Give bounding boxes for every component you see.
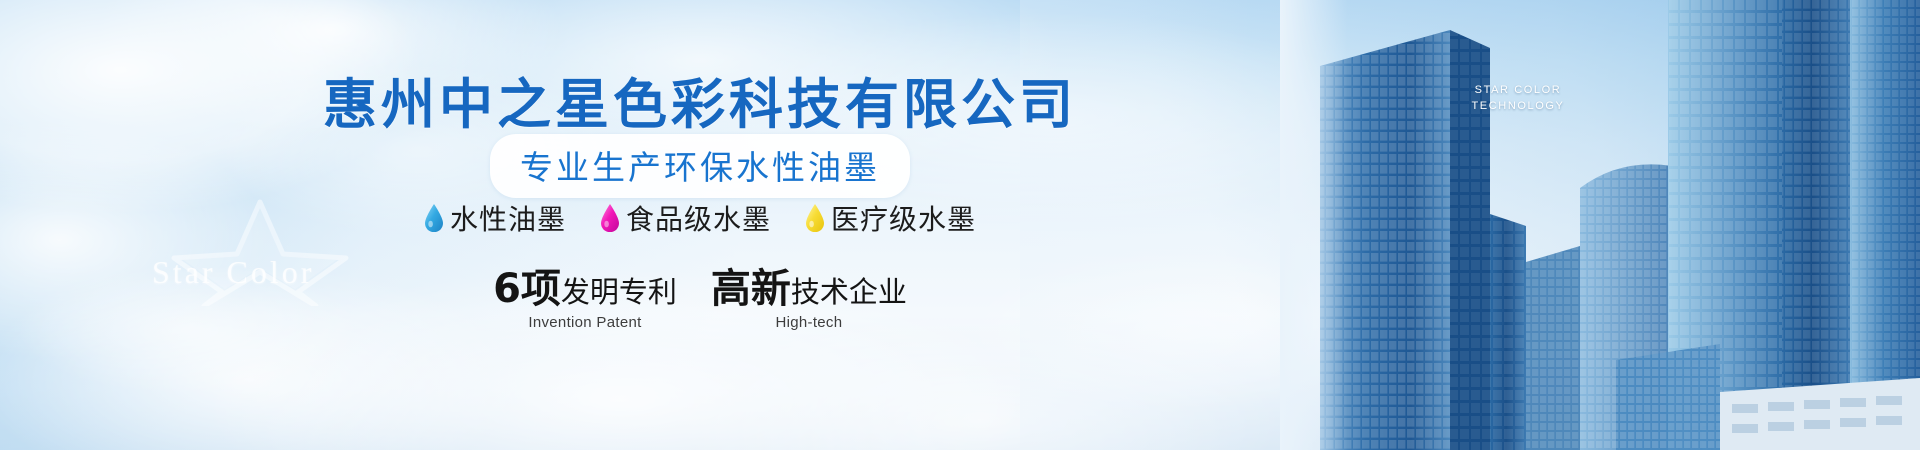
company-title: 惠州中之星色彩科技有限公司 <box>0 60 1400 139</box>
feature-list: 水性油墨 <box>0 198 1400 238</box>
water-drop-icon <box>805 204 825 232</box>
banner-content: 惠州中之星色彩科技有限公司 专业生产环保水性油墨 <box>0 0 1400 450</box>
credential-list: 6项发明专利 Invention Patent 高新技术企业 High-tech <box>0 268 1400 331</box>
feature-label: 医疗级水墨 <box>831 198 976 238</box>
feature-label: 食品级水墨 <box>626 198 771 238</box>
feature-label: 水性油墨 <box>450 198 566 238</box>
water-drop-icon <box>424 204 444 232</box>
credential-item: 高新技术企业 High-tech <box>711 268 907 331</box>
promotional-banner: Star Color <box>0 0 1920 450</box>
credential-chinese: 6项发明专利 <box>493 268 677 310</box>
subtitle-badge-container: 专业生产环保水性油墨 <box>0 134 1400 198</box>
water-drop-icon <box>600 204 620 232</box>
feature-item: 水性油墨 <box>424 198 566 238</box>
feature-item: 医疗级水墨 <box>805 198 976 238</box>
credential-english: Invention Patent <box>493 314 677 331</box>
credential-item: 6项发明专利 Invention Patent <box>493 268 677 331</box>
credential-rest: 发明专利 <box>561 275 677 309</box>
credential-highlight: 高新 <box>711 266 791 312</box>
credential-chinese: 高新技术企业 <box>711 268 907 310</box>
brand-mark: STAR COLOR TECHNOLOGY <box>1458 82 1578 114</box>
feature-item: 食品级水墨 <box>600 198 771 238</box>
brand-mark-line2: TECHNOLOGY <box>1458 98 1578 114</box>
credential-english: High-tech <box>711 314 907 331</box>
subtitle-badge: 专业生产环保水性油墨 <box>490 134 910 198</box>
brand-mark-line1: STAR COLOR <box>1458 82 1578 98</box>
credential-rest: 技术企业 <box>791 275 907 309</box>
credential-highlight: 6项 <box>493 266 561 312</box>
